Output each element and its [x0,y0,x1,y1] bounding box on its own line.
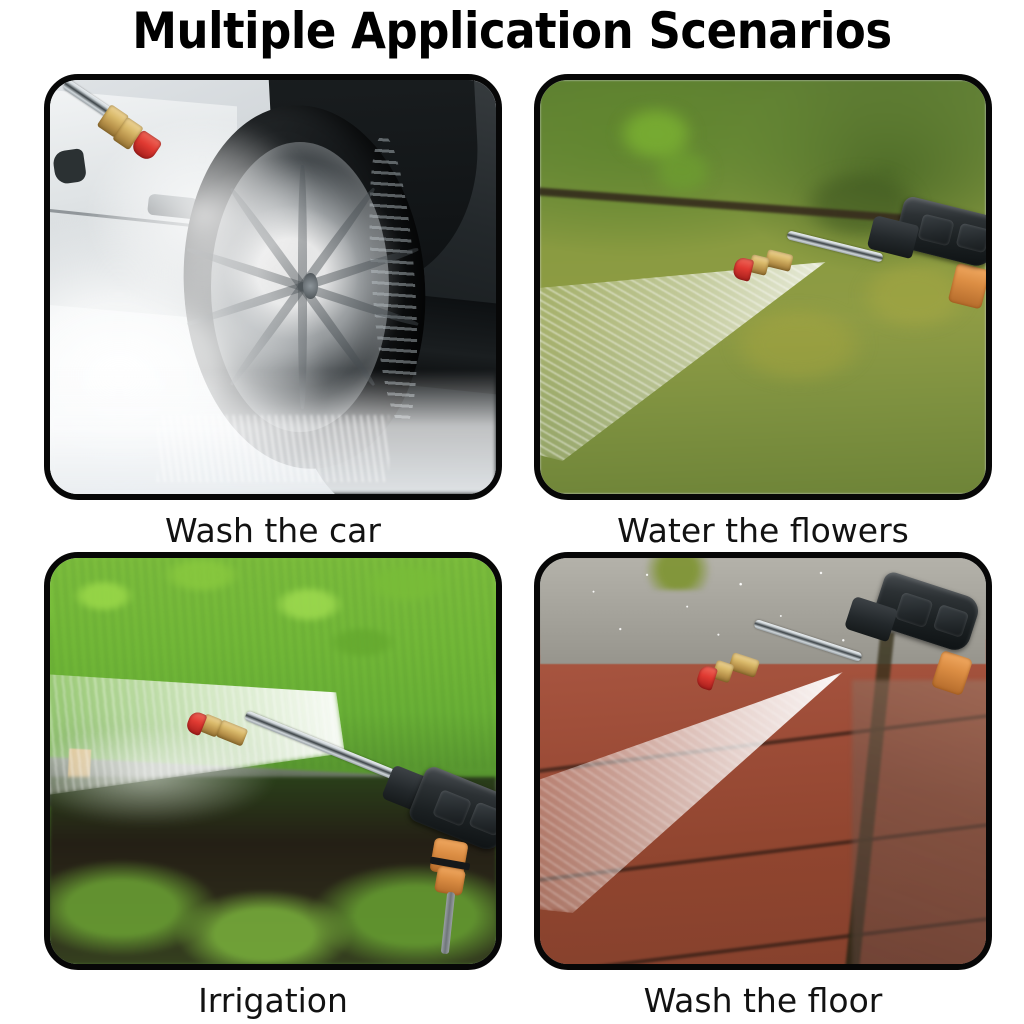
page-title-text: Multiple Application Scenarios [132,2,892,60]
pressure-washer-gun-irrigation [200,668,500,968]
scenario-card-wash-the-floor[interactable]: Wash the floor [534,552,1000,1024]
scenario-image-irrigation [44,552,502,970]
nozzle-tip-red [695,664,718,691]
wand-tube [244,710,396,779]
pressure-washer-nozzle-car [56,82,236,182]
scenario-image-wash-the-floor [534,552,992,970]
hose-fitting-orange [931,650,973,696]
scenario-card-wash-the-car[interactable]: Wash the car [44,74,510,554]
infographic-page: Multiple Application Scenarios [0,0,1024,1024]
caption-wash-the-car: Wash the car [44,508,502,554]
scenario-image-wash-the-car [44,74,502,500]
pressure-washer-gun-flowers [730,200,992,350]
pressure-washer-gun-floor [690,568,990,788]
hose [441,892,455,954]
caption-irrigation: Irrigation [44,978,502,1024]
scenario-card-water-the-flowers[interactable]: Water the flowers [534,74,1000,554]
ground-splash [157,415,389,481]
scenario-image-water-the-flowers [534,74,992,500]
scenario-grid: Wash the car [0,64,1024,1024]
hose-fitting-orange [948,262,991,309]
nozzle-tip-red [732,256,755,282]
page-title: Multiple Application Scenarios [0,2,1024,60]
scenario-card-irrigation[interactable]: Irrigation [44,552,510,1024]
caption-wash-the-floor: Wash the floor [534,978,992,1024]
caption-water-the-flowers: Water the flowers [534,508,992,554]
